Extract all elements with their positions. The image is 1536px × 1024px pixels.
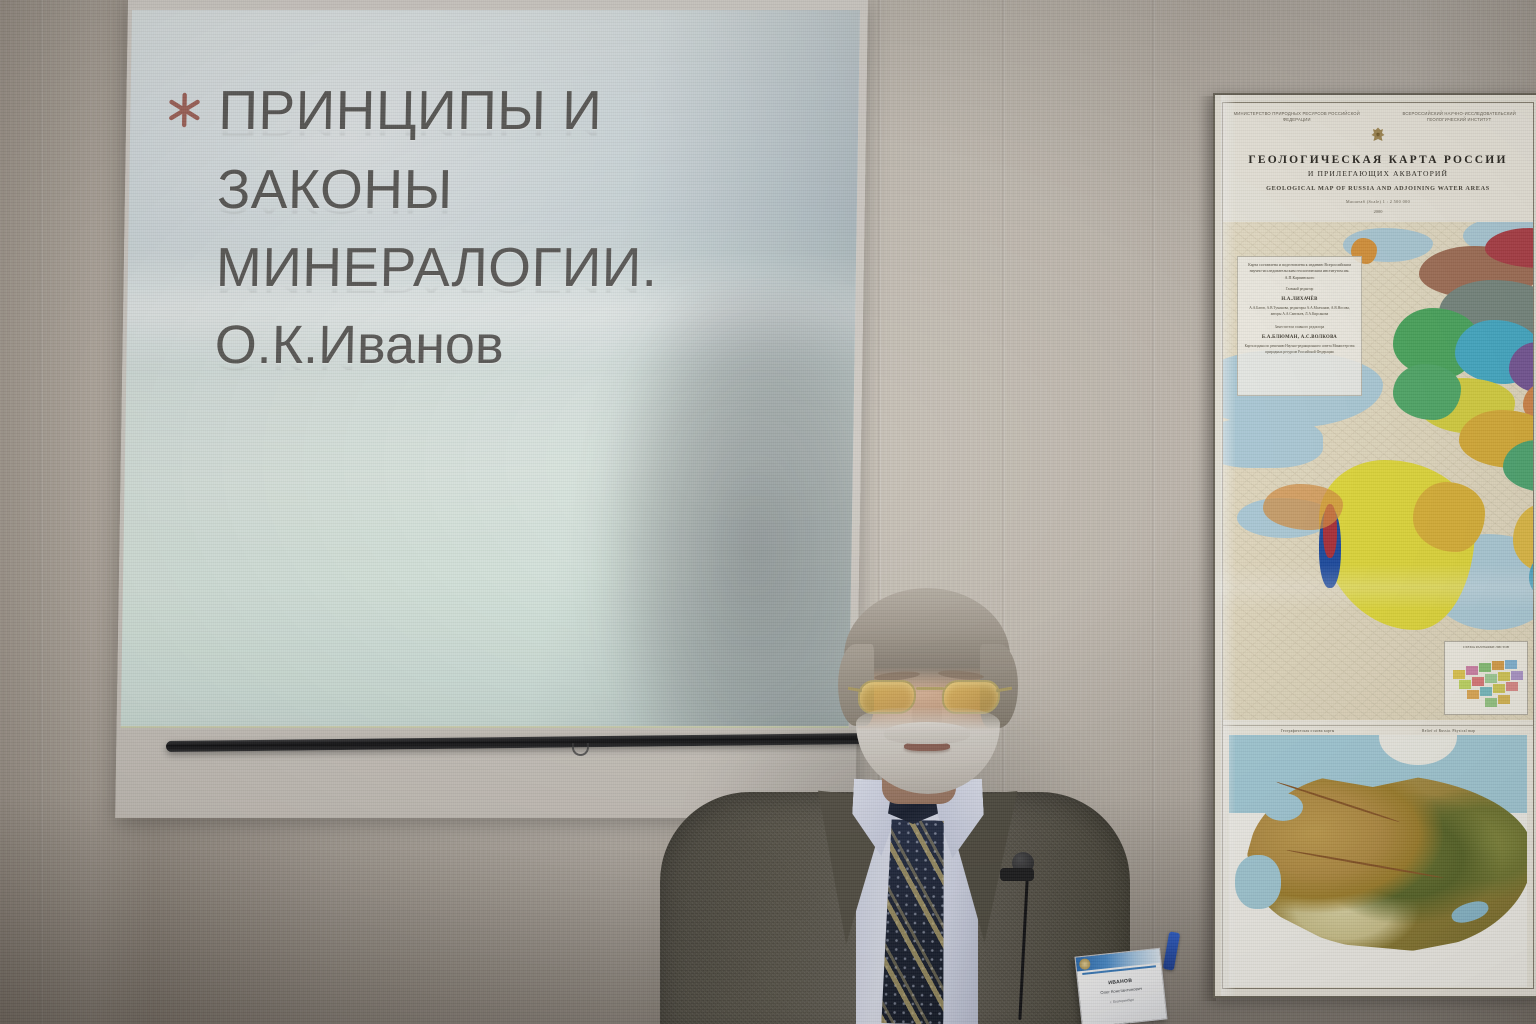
inset-sheet-cell bbox=[1505, 660, 1517, 669]
poster-footer-text: Отпечатано на Картографической фабрике В… bbox=[1223, 987, 1533, 989]
inset-sheet-cell bbox=[1493, 684, 1505, 693]
poster-scale-text: Масштаб (Scale) 1 : 2 500 000 bbox=[1233, 199, 1523, 204]
moustache bbox=[884, 722, 970, 744]
inset-sheet-cell bbox=[1479, 663, 1491, 672]
inset-sheet-cell bbox=[1453, 670, 1465, 679]
geological-map-body: Карта составлена и подготовлена к издани… bbox=[1223, 222, 1533, 720]
credits-compilers: А.А.Багов, А.В.Туманова, редакторы А.А.М… bbox=[1244, 305, 1355, 318]
inset-sheet-cell bbox=[1472, 677, 1484, 686]
geological-map-poster: МИНИСТЕРСТВО ПРИРОДНЫХ РЕСУРСОВ РОССИЙСК… bbox=[1213, 93, 1536, 998]
relief-caption-row: Географическая основа карты Relief of Ru… bbox=[1223, 726, 1533, 735]
inset-sheet-cell bbox=[1498, 672, 1510, 681]
map-geo-unit bbox=[1413, 482, 1485, 552]
map-geo-unit bbox=[1393, 364, 1461, 420]
inset-sheet-cell bbox=[1492, 661, 1504, 670]
map-credits-block: Карта составлена и подготовлена к издани… bbox=[1237, 256, 1362, 396]
inset-sheet-cell bbox=[1480, 687, 1492, 696]
necktie bbox=[881, 819, 948, 1024]
inset-sheet-cell bbox=[1459, 680, 1471, 689]
slide-line-1-reflection: ПРИНЦИПЫ И bbox=[218, 127, 828, 139]
relief-caspian-sea bbox=[1235, 855, 1281, 909]
asterisk-bullet-icon bbox=[162, 88, 207, 132]
relief-caption-right: Relief of Russia. Physical map bbox=[1422, 729, 1475, 733]
inset-sheet-cell bbox=[1485, 698, 1497, 707]
conference-photo-scene: ПРИНЦИПЫ И ПРИНЦИПЫ И ЗАКОНЫ ЗАКОНЫ МИНЕ… bbox=[0, 0, 1536, 1024]
credits-deputy-name: Б.А.БЛЮМАН, А.С.ВОЛКОВА bbox=[1244, 335, 1355, 340]
inset-sheet-cell bbox=[1467, 690, 1479, 699]
slide-line-2-wrap: ЗАКОНЫ ЗАКОНЫ bbox=[216, 161, 827, 244]
credits-editor-name: Н.А.ЛИХАЧЁВ bbox=[1244, 297, 1355, 302]
eyeglass-bridge bbox=[916, 687, 944, 690]
credits-deputy-label: Заместители главного редактора bbox=[1244, 324, 1355, 330]
slide-text-block: ПРИНЦИПЫ И ПРИНЦИПЫ И ЗАКОНЫ ЗАКОНЫ МИНЕ… bbox=[214, 82, 829, 396]
relief-physical-map bbox=[1229, 735, 1527, 987]
inset-sheet-cell bbox=[1466, 666, 1478, 675]
map-water-area bbox=[1223, 418, 1323, 468]
poster-title-russian: ГЕОЛОГИЧЕСКАЯ КАРТА РОССИИ bbox=[1233, 154, 1523, 166]
inset-title: СХЕМА РАЗГРАФКИ ЛИСТОВ bbox=[1445, 642, 1527, 650]
inset-sheet-cell bbox=[1511, 671, 1523, 680]
poster-agency-right: ВСЕРОССИЙСКИЙ НАУЧНО-ИССЛЕДОВАТЕЛЬСКИЙ Г… bbox=[1395, 111, 1523, 123]
slide-line-3-reflection: МИНЕРАЛОГИИ. bbox=[216, 284, 826, 296]
inset-sheet-cell bbox=[1485, 674, 1497, 683]
badge-organisation: г. Екатеринбург bbox=[1080, 995, 1164, 1008]
credits-heading: Карта составлена и подготовлена к издани… bbox=[1244, 262, 1355, 281]
map-sheet-index-inset: СХЕМА РАЗГРАФКИ ЛИСТОВ bbox=[1444, 641, 1528, 715]
poster-inner-frame: МИНИСТЕРСТВО ПРИРОДНЫХ РЕСУРСОВ РОССИЙСК… bbox=[1222, 102, 1534, 989]
poster-agency-left: МИНИСТЕРСТВО ПРИРОДНЫХ РЕСУРСОВ РОССИЙСК… bbox=[1233, 111, 1361, 123]
poster-agency-line: МИНИСТЕРСТВО ПРИРОДНЫХ РЕСУРСОВ РОССИЙСК… bbox=[1233, 111, 1523, 123]
poster-year-text: 2000 bbox=[1233, 209, 1523, 214]
inset-sheet-cell bbox=[1506, 682, 1518, 691]
poster-title-english: GEOLOGICAL MAP OF RUSSIA AND ADJOINING W… bbox=[1233, 185, 1523, 192]
slide-author-reflection: О.К.Иванов bbox=[214, 362, 824, 374]
relief-white-sea bbox=[1263, 793, 1303, 821]
poster-header: МИНИСТЕРСТВО ПРИРОДНЫХ РЕСУРСОВ РОССИЙСК… bbox=[1223, 103, 1533, 218]
slide-line-2-reflection: ЗАКОНЫ bbox=[217, 206, 827, 218]
map-geo-unit bbox=[1263, 484, 1343, 530]
credits-note: Карта издана по решению Научно-редакцион… bbox=[1244, 343, 1355, 356]
microphone-clip bbox=[1000, 868, 1034, 881]
inset-sheet-cell bbox=[1498, 695, 1510, 704]
slide-line-3-wrap: МИНЕРАЛОГИИ. МИНЕРАЛОГИИ. bbox=[215, 239, 826, 322]
credits-editor-label: Главный редактор bbox=[1244, 286, 1355, 292]
relief-caption-left: Географическая основа карты bbox=[1281, 729, 1335, 733]
slide-author-wrap: О.К.Иванов О.К.Иванов bbox=[214, 318, 825, 400]
speaker-person: ИВАНОВ Олег Константинович г. Екатеринбу… bbox=[660, 580, 1130, 1024]
russian-double-eagle-emblem-icon bbox=[1370, 126, 1386, 144]
poster-subtitle-russian: И ПРИЛЕГАЮЩИХ АКВАТОРИЙ bbox=[1233, 169, 1523, 178]
name-badge: ИВАНОВ Олег Константинович г. Екатеринбу… bbox=[1074, 948, 1167, 1024]
slide-line-1-wrap: ПРИНЦИПЫ И ПРИНЦИПЫ И bbox=[218, 82, 829, 165]
